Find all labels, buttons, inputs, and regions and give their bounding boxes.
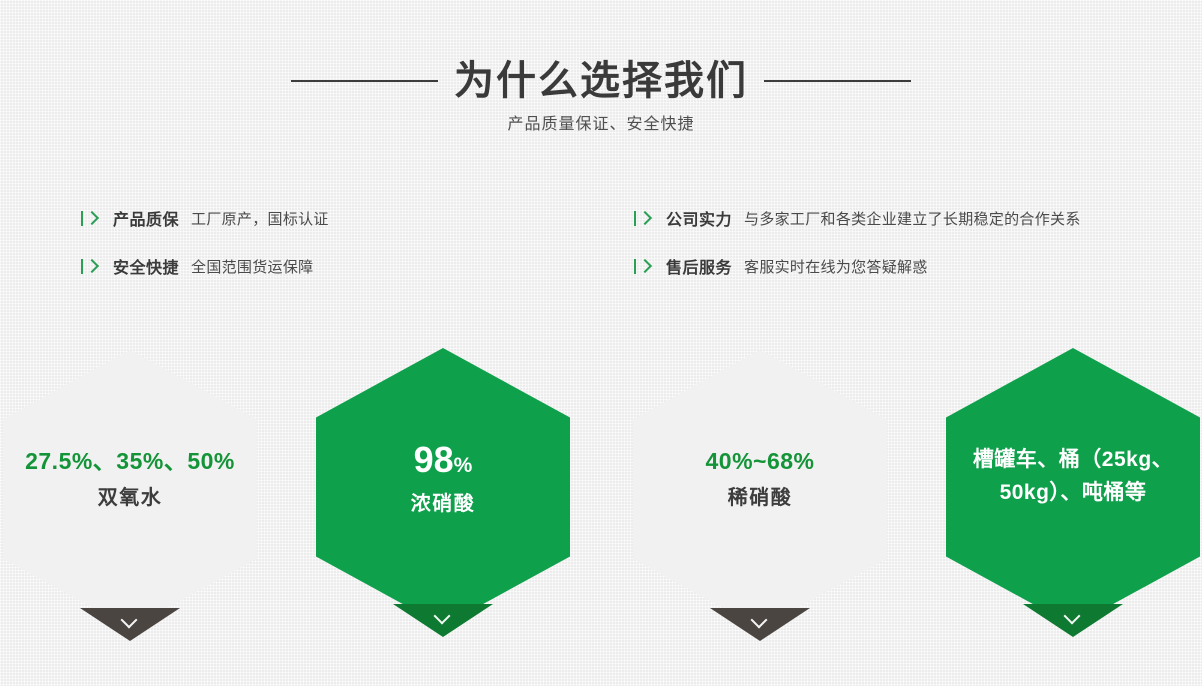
feature-title: 产品质保 xyxy=(113,206,179,230)
hexagon-label: 双氧水 xyxy=(98,485,163,511)
title-rule-left xyxy=(291,80,438,82)
hexagon-label: 浓硝酸 xyxy=(411,491,476,517)
hexagon-value-unit: % xyxy=(454,454,473,477)
page-header: 为什么选择我们 产品质量保证、安全快捷 xyxy=(0,0,1202,160)
hexagon-value: 40%~68% xyxy=(706,447,815,476)
feature-column-right: 公司实力 与多家工厂和各类企业建立了长期稳定的合作关系 售后服务 客服实时在线为… xyxy=(633,196,1193,292)
hexagon-card-hydrogen-peroxide[interactable]: 27.5%、35%、50% 双氧水 xyxy=(3,340,257,640)
chevron-bar-icon xyxy=(80,211,100,226)
hexagon-card-dilute-nitric-acid[interactable]: 40%~68% 稀硝酸 xyxy=(633,340,887,640)
product-hexagon-row: 27.5%、35%、50% 双氧水 98% 浓硝酸 40%~68% 稀硝酸 槽罐… xyxy=(0,340,1202,686)
feature-list: 产品质保 工厂原产，国标认证 安全快捷 全国范围货运保障 公司实力 与多家工厂和… xyxy=(0,196,1202,296)
feature-item-safe-fast: 安全快捷 全国范围货运保障 xyxy=(80,244,600,288)
feature-desc: 客服实时在线为您答疑解惑 xyxy=(744,256,928,277)
title-rule-right xyxy=(764,80,911,82)
hexagon-content: 27.5%、35%、50% 双氧水 xyxy=(13,340,247,618)
hexagon-value: 27.5%、35%、50% xyxy=(25,447,235,476)
chevron-bar-icon xyxy=(633,211,653,226)
hexagon-card-packaging[interactable]: 槽罐车、桶（25kg、50kg）、吨桶等 xyxy=(946,340,1200,640)
title-row: 为什么选择我们 xyxy=(0,50,1202,112)
feature-item-after-sales: 售后服务 客服实时在线为您答疑解惑 xyxy=(633,244,1193,288)
hexagon-label: 稀硝酸 xyxy=(728,485,793,511)
feature-desc: 工厂原产，国标认证 xyxy=(191,208,329,229)
hexagon-value: 98% xyxy=(414,437,473,482)
hexagon-value: 槽罐车、桶（25kg、50kg）、吨桶等 xyxy=(956,444,1190,509)
feature-item-company-strength: 公司实力 与多家工厂和各类企业建立了长期稳定的合作关系 xyxy=(633,196,1193,240)
feature-column-left: 产品质保 工厂原产，国标认证 安全快捷 全国范围货运保障 xyxy=(80,196,600,292)
page-title: 为什么选择我们 xyxy=(448,61,754,101)
hexagon-content: 40%~68% 稀硝酸 xyxy=(643,340,877,618)
page-subtitle: 产品质量保证、安全快捷 xyxy=(0,110,1202,134)
feature-title: 安全快捷 xyxy=(113,254,179,278)
feature-desc: 与多家工厂和各类企业建立了长期稳定的合作关系 xyxy=(744,208,1081,229)
feature-title: 公司实力 xyxy=(666,206,732,230)
feature-desc: 全国范围货运保障 xyxy=(191,256,313,277)
hexagon-content: 98% 浓硝酸 xyxy=(326,338,560,616)
feature-title: 售后服务 xyxy=(666,254,732,278)
hexagon-value-number: 98 xyxy=(414,439,454,480)
feature-item-product-warranty: 产品质保 工厂原产，国标认证 xyxy=(80,196,600,240)
chevron-bar-icon xyxy=(80,259,100,274)
hexagon-card-concentrated-nitric-acid[interactable]: 98% 浓硝酸 xyxy=(316,340,570,640)
hexagon-content: 槽罐车、桶（25kg、50kg）、吨桶等 xyxy=(956,338,1190,616)
chevron-bar-icon xyxy=(633,259,653,274)
